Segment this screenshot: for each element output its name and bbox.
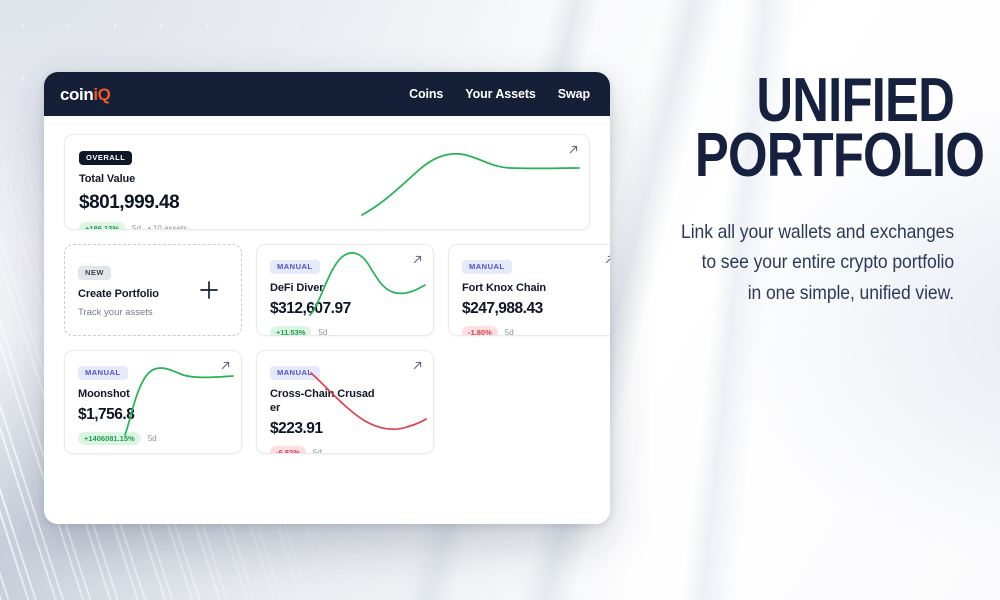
coiniq-logo[interactable]: coiniQ	[60, 86, 111, 103]
promo-subtext: Link all your wallets and exchanges to s…	[670, 217, 954, 308]
portfolio-change: -6.82%	[270, 446, 306, 455]
manual-badge: MANUAL	[462, 260, 512, 274]
promo-headline-line2: PORTFOLIO	[695, 129, 954, 184]
app-window: coiniQ Coins Your Assets Swap OVERALL To…	[44, 72, 610, 524]
portfolio-row-2: MANUAL Moonshot $1,756.8 +1406081.15% 5d	[64, 350, 590, 454]
new-badge: NEW	[78, 266, 111, 280]
portfolio-value: $1,756.8	[78, 406, 228, 424]
expand-arrow-icon[interactable]	[604, 254, 610, 265]
create-portfolio-title: Create Portfolio	[78, 288, 159, 302]
portfolio-card-cross-chain-crusader[interactable]: MANUAL Cross-Chain Crusader $223.91 -6.8…	[256, 350, 434, 454]
total-value-card[interactable]: OVERALL Total Value $801,999.48 +186.13%…	[64, 134, 590, 230]
logo-text-primary: coin	[60, 85, 93, 104]
total-value-change: +186.13%	[79, 222, 125, 230]
promo-panel: UNIFIED PORTFOLIO Link all your wallets …	[638, 74, 954, 308]
portfolio-name: Moonshot	[78, 388, 186, 402]
plus-icon[interactable]	[198, 279, 220, 301]
portfolio-change: -1.80%	[462, 326, 498, 336]
portfolio-period: 5d	[318, 328, 327, 336]
expand-arrow-icon[interactable]	[412, 254, 423, 265]
portfolio-card-fort-knox-chain[interactable]: MANUAL Fort Knox Chain $247,988.43 -1.80…	[448, 244, 610, 336]
nav-item-swap[interactable]: Swap	[558, 87, 590, 101]
total-value-period: 5d	[132, 224, 141, 230]
portfolio-change: +1406081.15%	[78, 432, 141, 446]
overall-badge: OVERALL	[79, 151, 132, 165]
portfolio-change: +11.53%	[270, 326, 311, 336]
nav-item-your-assets[interactable]: Your Assets	[465, 87, 535, 101]
portfolio-value: $312,607.97	[270, 300, 420, 318]
expand-arrow-icon[interactable]	[568, 144, 579, 155]
create-portfolio-card[interactable]: NEW Create Portfolio Track your assets	[64, 244, 242, 336]
portfolio-card-moonshot[interactable]: MANUAL Moonshot $1,756.8 +1406081.15% 5d	[64, 350, 242, 454]
total-value-meta: +186.13% 5d • 10 assets	[79, 222, 575, 230]
portfolio-value: $247,988.43	[462, 300, 610, 318]
portfolio-row-1: NEW Create Portfolio Track your assets M…	[64, 244, 590, 336]
promo-subtext-line2: to see your entire crypto portfolio	[670, 247, 954, 277]
promo-headline: UNIFIED PORTFOLIO	[695, 74, 954, 183]
portfolio-meta: -1.80% 5d	[462, 326, 610, 336]
manual-badge: MANUAL	[270, 366, 320, 380]
main-nav: Coins Your Assets Swap	[409, 87, 590, 101]
promo-subtext-line1: Link all your wallets and exchanges	[670, 217, 954, 247]
total-value-amount: $801,999.48	[79, 192, 575, 214]
manual-badge: MANUAL	[270, 260, 320, 274]
expand-arrow-icon[interactable]	[412, 360, 423, 371]
portfolio-period: 5d	[505, 328, 514, 336]
nav-item-coins[interactable]: Coins	[409, 87, 443, 101]
app-content: OVERALL Total Value $801,999.48 +186.13%…	[44, 116, 610, 524]
promo-subtext-line3: in one simple, unified view.	[670, 278, 954, 308]
manual-badge: MANUAL	[78, 366, 128, 380]
portfolio-meta: +1406081.15% 5d	[78, 432, 228, 446]
create-portfolio-subtitle: Track your assets	[78, 307, 159, 318]
portfolio-period: 5d	[148, 434, 157, 443]
portfolio-period: 5d	[313, 448, 322, 454]
portfolio-meta: +11.53% 5d	[270, 326, 420, 336]
total-value-label: Total Value	[79, 173, 575, 187]
app-topbar: coiniQ Coins Your Assets Swap	[44, 72, 610, 116]
portfolio-value: $223.91	[270, 420, 420, 438]
expand-arrow-icon[interactable]	[220, 360, 231, 371]
logo-text-accent: iQ	[93, 85, 110, 104]
portfolio-name: Fort Knox Chain	[462, 282, 610, 296]
total-value-assets: • 10 assets	[148, 224, 187, 230]
portfolio-card-defi-diver[interactable]: MANUAL DeFi Diver $312,607.97 +11.53% 5d	[256, 244, 434, 336]
page-root: coiniQ Coins Your Assets Swap OVERALL To…	[0, 0, 1000, 600]
portfolio-name: Cross-Chain Crusader	[270, 388, 378, 416]
create-portfolio-text: NEW Create Portfolio Track your assets	[78, 262, 159, 318]
portfolio-meta: -6.82% 5d	[270, 446, 420, 455]
portfolio-name: DeFi Diver	[270, 282, 378, 296]
